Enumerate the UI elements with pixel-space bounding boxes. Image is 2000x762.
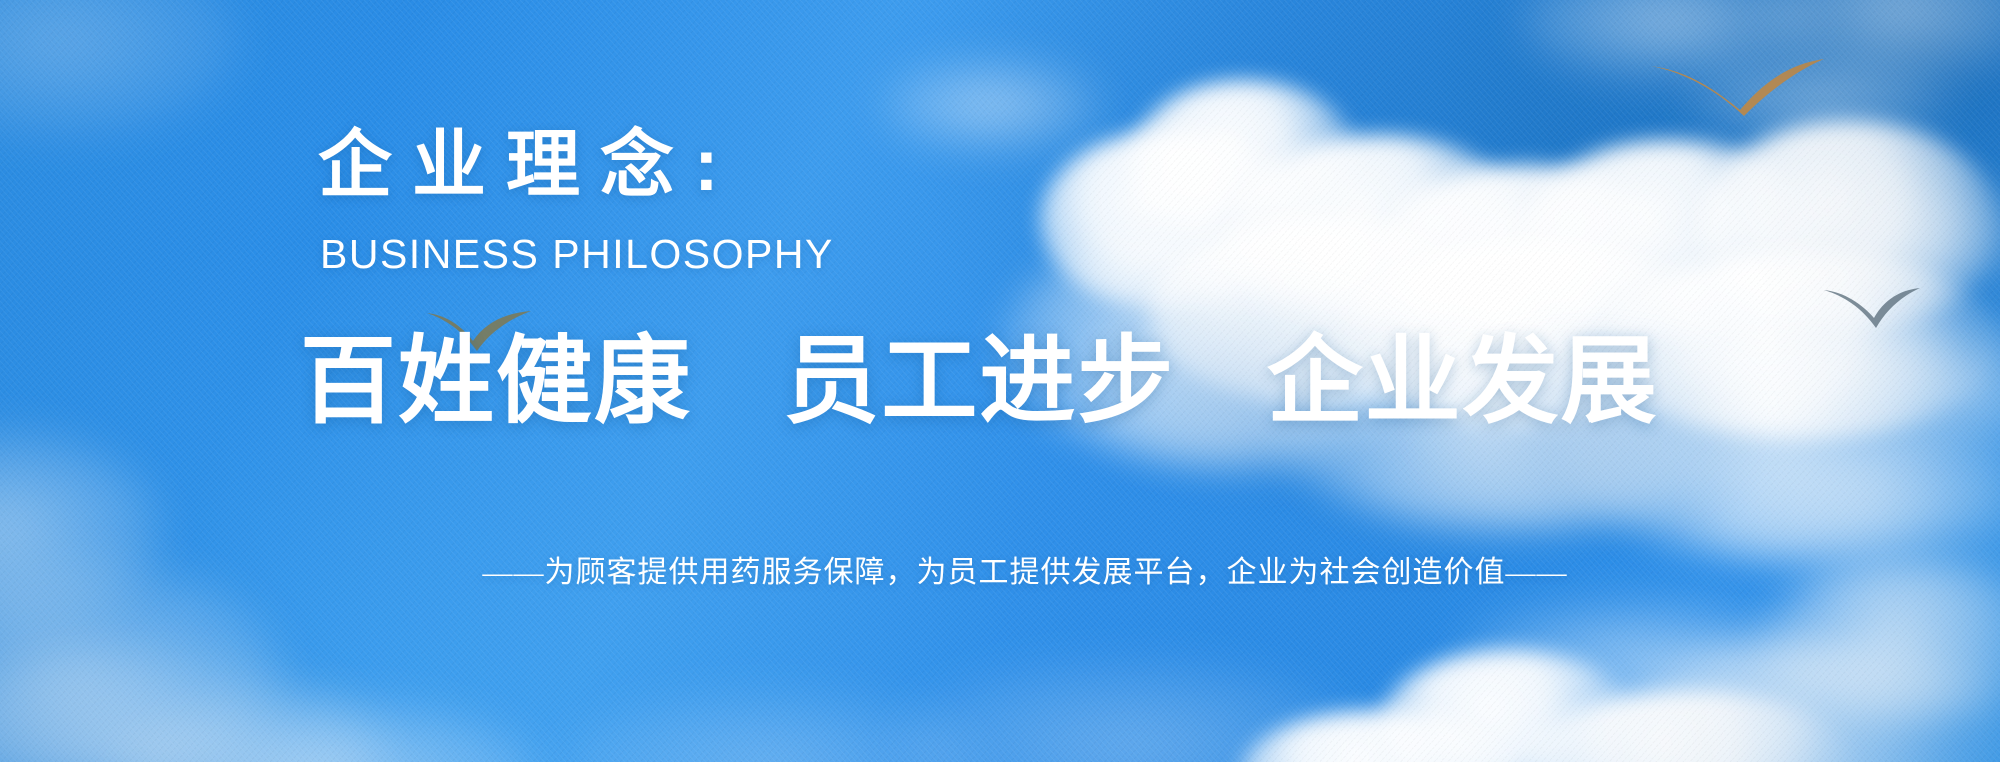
slogan-part-1: 百姓健康 — [300, 328, 692, 435]
business-philosophy-banner: 企业理念: BUSINESS PHILOSOPHY 百姓健康 员工进步 企业发展… — [0, 0, 2000, 762]
slogan-tagline: ——为顾客提供用药服务保障，为员工提供发展平台，企业为社会创造价值—— — [300, 555, 1750, 591]
page-title-chinese: 企业理念: — [318, 128, 1718, 202]
page-subtitle-english: BUSINESS PHILOSOPHY — [320, 234, 1718, 275]
headline-text-block: 企业理念: BUSINESS PHILOSOPHY — [318, 128, 1718, 275]
slogan-headline: 百姓健康 员工进步 企业发展 — [300, 330, 1750, 434]
slogan-part-3: 企业发展 — [1267, 328, 1659, 435]
slogan-part-2: 员工进步 — [783, 328, 1175, 435]
